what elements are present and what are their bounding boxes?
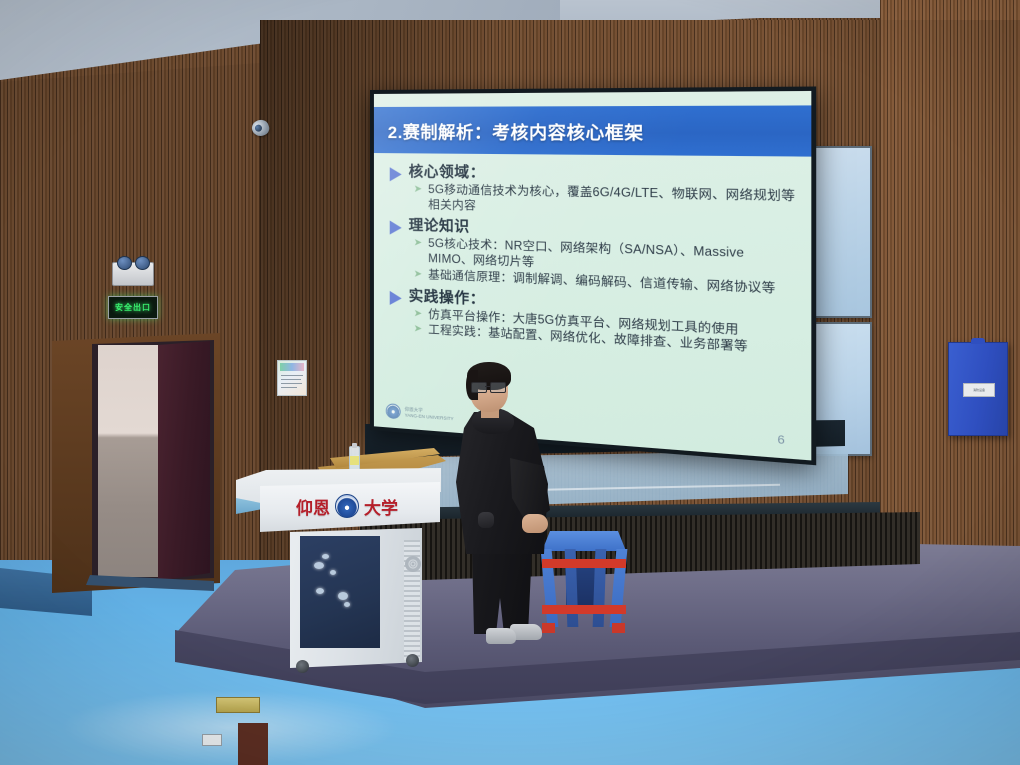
- cabinet-hanger-tab: [971, 338, 985, 344]
- poster-text-line: [281, 379, 301, 380]
- slide-section: 实践操作： ➤ 仿真平台操作：大唐5G仿真平台、网络规划工具的使用 ➤ 工程实践…: [390, 287, 799, 358]
- panel-glint: [344, 602, 350, 607]
- chevron-bullet-icon: ➤: [414, 237, 422, 251]
- stool-foot-right: [612, 623, 625, 633]
- stool-seat: [542, 531, 626, 551]
- slide-sub-bullet: ➤ 5G移动通信技术为核心，覆盖6G/4G/LTE、物联网、网络规划等相关内容: [414, 183, 800, 222]
- chevron-bullet-icon: ➤: [414, 267, 422, 281]
- panel-glint: [338, 592, 348, 600]
- camera-lens-icon: [254, 124, 263, 133]
- emergency-light-fixture: [112, 262, 154, 286]
- presenter-glasses-icon: [470, 382, 508, 392]
- podium-caster-wheel: [406, 654, 419, 667]
- slide-title-bar: 2.赛制解析：考核内容核心框架: [374, 105, 811, 156]
- projected-slide: 2.赛制解析：考核内容核心框架 核心领域： ➤ 5G移动通信技术为核心，覆盖6G…: [374, 91, 811, 460]
- bottle-cap: [352, 443, 357, 448]
- exit-sign-label: 安全出口: [115, 302, 151, 313]
- chevron-bullet-icon: ➤: [414, 183, 422, 197]
- flag-bullet-icon: [390, 221, 402, 235]
- door-leaf-open[interactable]: [158, 341, 210, 581]
- slide-section-heading: 理论知识: [409, 218, 470, 237]
- podium-brand-right: 大学: [364, 494, 398, 519]
- podium-speaker-icon: [405, 556, 421, 572]
- poster-text-line: [281, 375, 303, 376]
- lecture-hall-photo: 安全出口 消防设备 2.赛制解析：考核内容核心框架: [0, 0, 1020, 765]
- slide-sub-bullet-text: 5G移动通信技术为核心，覆盖6G/4G/LTE、物联网、网络规划等相关内容: [428, 183, 799, 221]
- chevron-bullet-icon: ➤: [414, 307, 422, 321]
- poster-text-line: [281, 387, 297, 388]
- university-emblem-icon: [386, 403, 401, 419]
- wall-notice-poster: [277, 360, 307, 396]
- corridor-wall-sign: [202, 734, 222, 746]
- presenter: [448, 362, 552, 662]
- corridor-cabinet: [238, 723, 268, 765]
- panel-glint: [314, 562, 324, 569]
- glasses-lens-left: [471, 382, 487, 393]
- bottle-label: [350, 456, 359, 465]
- chevron-bullet-icon: ➤: [414, 323, 422, 337]
- cabinet-label: 消防设备: [963, 383, 995, 397]
- poster-text-line: [281, 383, 302, 384]
- presenter-legs: [470, 548, 534, 634]
- glasses-lens-right: [490, 382, 506, 393]
- presenter-hand-right: [522, 514, 548, 533]
- stool-rail-upper: [542, 559, 626, 568]
- slide-page-number: 6: [777, 433, 784, 447]
- exit-sign: 安全出口: [108, 296, 158, 319]
- podium-brand-left: 仰恩: [296, 494, 330, 519]
- podium-university-branding: 仰恩 大学: [282, 492, 412, 520]
- emergency-lamp-left-icon: [117, 256, 132, 270]
- slide-footer-logo-text: 仰恩大学 YANG-EN UNIVERSITY: [405, 406, 454, 421]
- podium-emblem-icon: [335, 494, 359, 518]
- podium-front-panel: [300, 536, 380, 648]
- slide-section-heading: 实践操作：: [409, 288, 486, 308]
- panel-glint: [330, 570, 336, 575]
- slide-title: 2.赛制解析：考核内容核心框架: [374, 117, 644, 144]
- poster-header-band: [280, 363, 304, 371]
- corridor-light-fixture: [216, 697, 260, 713]
- slide-footer-name-en: YANG-EN UNIVERSITY: [405, 412, 454, 421]
- emergency-lamp-right-icon: [135, 256, 150, 270]
- stool-rail-lower: [542, 605, 626, 614]
- presenter-shoe-left: [486, 628, 516, 644]
- slide-section: 理论知识 ➤ 5G核心技术：NR空口、网络架构（SA/NSA）、Massive …: [390, 218, 799, 298]
- flag-bullet-icon: [390, 290, 402, 305]
- panel-glint: [316, 588, 324, 594]
- wall-mounted-blue-cabinet[interactable]: 消防设备: [948, 342, 1008, 436]
- slide-section-heading: 核心领域：: [409, 164, 486, 182]
- presenter-hand-left: [478, 512, 494, 528]
- flag-bullet-icon: [390, 167, 402, 181]
- slide-section: 核心领域： ➤ 5G移动通信技术为核心，覆盖6G/4G/LTE、物联网、网络规划…: [390, 164, 799, 221]
- podium-caster-wheel: [296, 660, 309, 673]
- panel-glint: [322, 554, 329, 559]
- projection-screen[interactable]: 2.赛制解析：考核内容核心框架 核心领域： ➤ 5G移动通信技术为核心，覆盖6G…: [370, 86, 816, 465]
